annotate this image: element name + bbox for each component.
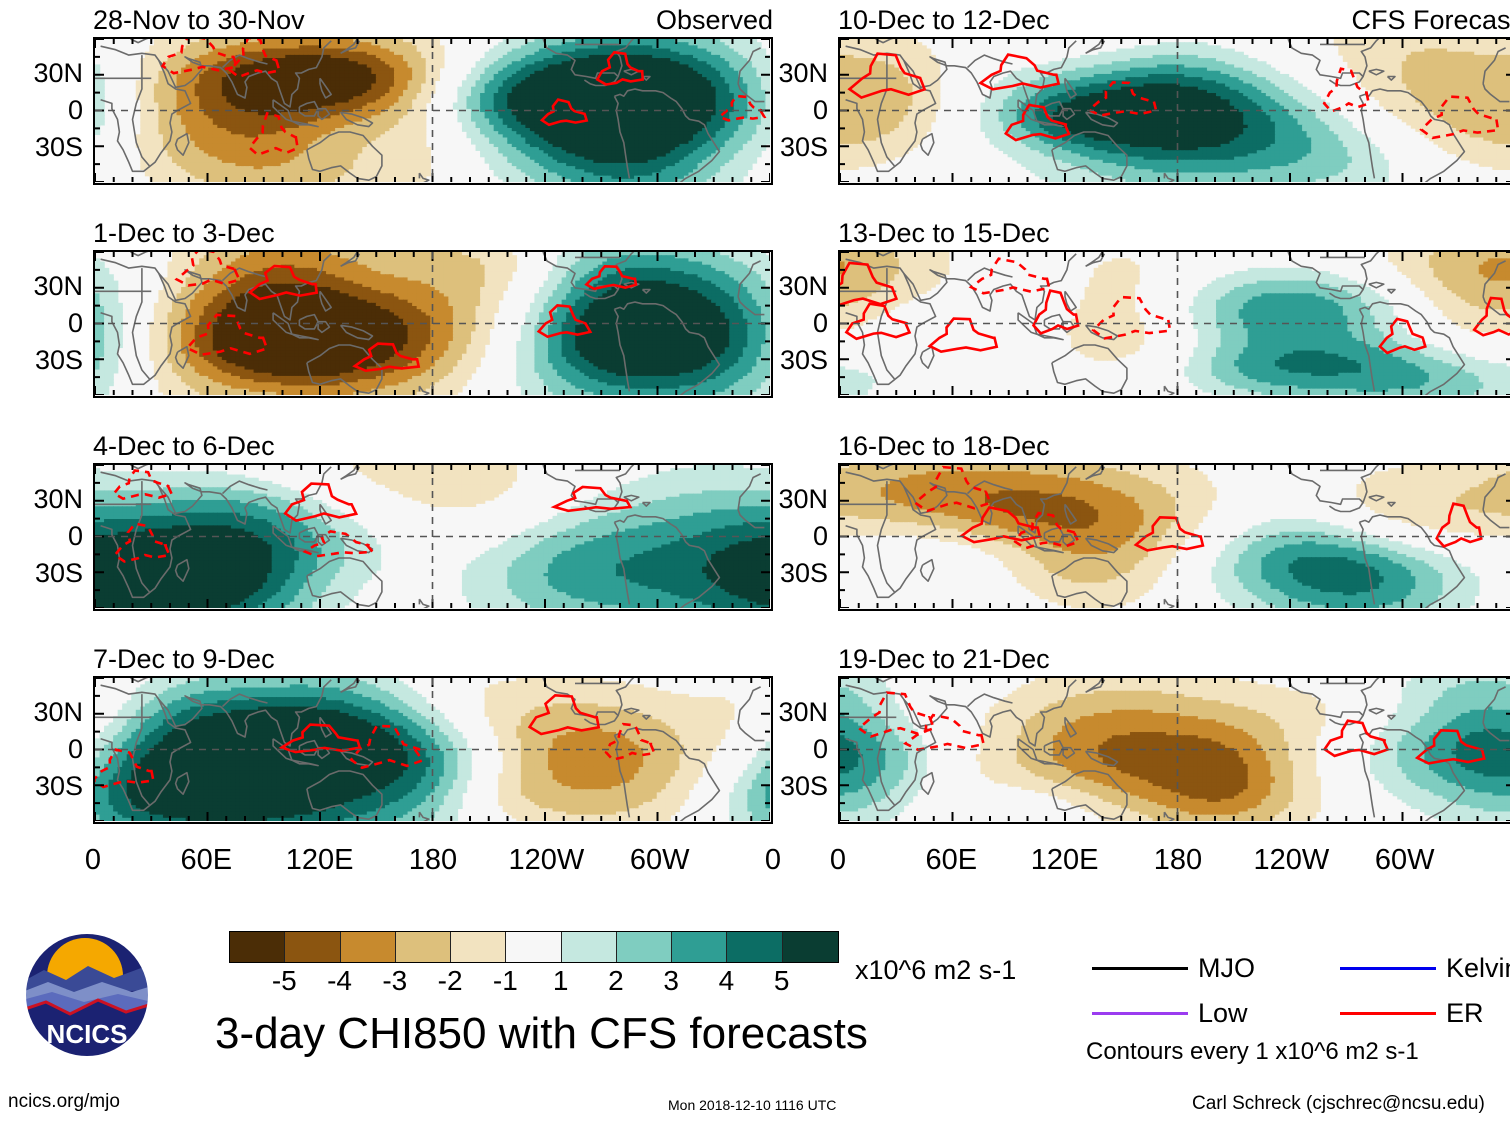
figure-title: 3-day CHI850 with CFS forecasts [215,1012,868,1056]
colorbar-tick-6: 2 [586,967,646,995]
panel-title-fcst-1: 10-Dec to 12-Dec [838,7,1050,34]
colorbar-tick-0: -5 [254,967,314,995]
x-tick-obs-4-3: 180 [383,846,483,875]
legend-item-low: Low [1092,1000,1248,1027]
map-panel-obs-4 [93,676,773,824]
site-url: ncics.org/mjo [8,1092,120,1111]
y-tick-obs-2-2: 30S [1,347,83,374]
map-contours-obs-1 [95,39,770,182]
ncics-logo: NCICS [22,930,152,1060]
x-tick-obs-4-1: 60E [156,846,256,875]
x-tick-obs-4-2: 120E [270,846,370,875]
legend-item-kelvin-x2: Kelvin x2 [1340,955,1510,982]
y-tick-obs-1-2: 30S [1,134,83,161]
map-contours-fcst-3 [840,465,1510,608]
panel-title-fcst-4: 19-Dec to 21-Dec [838,646,1050,673]
colorbar-segment-7 [617,932,672,962]
colorbar-tick-3: -2 [420,967,480,995]
colorbar-segment-4 [451,932,506,962]
author-credit: Carl Schreck (cjschrec@ncsu.edu) [1192,1094,1485,1113]
legend-label-3: ER [1446,1000,1484,1027]
legend-label-0: MJO [1198,955,1255,982]
generation-timestamp: Mon 2018-12-10 1116 UTC [668,1098,836,1112]
y-tick-obs-1-1: 0 [1,97,83,124]
legend-line-swatch-1 [1340,967,1436,970]
y-tick-obs-4-0: 30N [1,699,83,726]
x-tick-fcst-4-2: 120E [1015,846,1115,875]
y-tick-fcst-3-1: 0 [746,523,828,550]
contour-interval-note: Contours every 1 x10^6 m2 s-1 [1086,1040,1419,1064]
map-panel-obs-1 [93,37,773,185]
x-tick-fcst-4-5: 60W [1355,846,1455,875]
colorbar-segment-0 [230,932,285,962]
colorbar-segment-1 [285,932,340,962]
colorbar-segment-3 [396,932,451,962]
x-tick-obs-4-0: 0 [43,846,143,875]
map-contours-obs-2 [95,252,770,395]
x-tick-fcst-4-0: 0 [788,846,888,875]
map-panel-fcst-1 [838,37,1510,185]
y-tick-fcst-3-2: 30S [746,560,828,587]
column-header-forecast: CFS Forecast [1318,7,1510,34]
colorbar-tick-9: 5 [752,967,812,995]
colorbar-segment-8 [672,932,727,962]
legend-line-swatch-2 [1092,1012,1188,1015]
panel-title-obs-1: 28-Nov to 30-Nov [93,7,305,34]
map-contours-fcst-2 [840,252,1510,395]
colorbar-tick-7: 3 [641,967,701,995]
colorbar-tick-8: 4 [696,967,756,995]
map-panel-fcst-2 [838,250,1510,398]
legend-line-swatch-3 [1340,1012,1436,1015]
panel-title-obs-4: 7-Dec to 9-Dec [93,646,275,673]
column-header-observed: Observed [573,7,773,34]
legend-line-swatch-0 [1092,967,1188,970]
map-panel-fcst-3 [838,463,1510,611]
panel-title-fcst-2: 13-Dec to 15-Dec [838,220,1050,247]
colorbar-tick-2: -3 [365,967,425,995]
colorbar-segment-10 [783,932,838,962]
map-contours-obs-4 [95,678,770,821]
colorbar-segment-9 [727,932,782,962]
map-contours-fcst-1 [840,39,1510,182]
y-tick-obs-4-1: 0 [1,736,83,763]
y-tick-fcst-4-0: 30N [746,699,828,726]
x-tick-obs-4-4: 120W [496,846,596,875]
y-tick-fcst-3-0: 30N [746,486,828,513]
legend-label-2: Low [1198,1000,1248,1027]
legend-item-er: ER [1340,1000,1484,1027]
x-tick-obs-4-5: 60W [610,846,710,875]
y-tick-fcst-4-2: 30S [746,773,828,800]
x-tick-fcst-4-3: 180 [1128,846,1228,875]
legend-label-1: Kelvin x2 [1446,955,1510,982]
y-tick-obs-3-2: 30S [1,560,83,587]
y-tick-fcst-2-0: 30N [746,273,828,300]
map-panel-fcst-4 [838,676,1510,824]
colorbar-segment-6 [562,932,617,962]
y-tick-fcst-2-2: 30S [746,347,828,374]
legend-item-mjo: MJO [1092,955,1255,982]
y-tick-fcst-1-2: 30S [746,134,828,161]
panel-title-fcst-3: 16-Dec to 18-Dec [838,433,1050,460]
y-tick-obs-2-0: 30N [1,273,83,300]
y-tick-fcst-4-1: 0 [746,736,828,763]
y-tick-fcst-2-1: 0 [746,310,828,337]
ncics-logo-text: NCICS [47,1019,128,1049]
colorbar-tick-5: 1 [531,967,591,995]
map-panel-obs-3 [93,463,773,611]
y-tick-fcst-1-0: 30N [746,60,828,87]
map-contours-obs-3 [95,465,770,608]
x-tick-fcst-4-4: 120W [1241,846,1341,875]
y-tick-obs-3-1: 0 [1,523,83,550]
colorbar [229,931,839,963]
map-panel-obs-2 [93,250,773,398]
y-tick-obs-1-0: 30N [1,60,83,87]
x-tick-fcst-4-6: 0 [1468,846,1510,875]
colorbar-segment-2 [341,932,396,962]
panel-title-obs-3: 4-Dec to 6-Dec [93,433,275,460]
y-tick-fcst-1-1: 0 [746,97,828,124]
map-contours-fcst-4 [840,678,1510,821]
panel-title-obs-2: 1-Dec to 3-Dec [93,220,275,247]
colorbar-tick-1: -4 [310,967,370,995]
colorbar-units-label: x10^6 m2 s-1 [855,957,1016,984]
colorbar-segment-5 [506,932,561,962]
y-tick-obs-3-0: 30N [1,486,83,513]
y-tick-obs-2-1: 0 [1,310,83,337]
x-tick-fcst-4-1: 60E [901,846,1001,875]
y-tick-obs-4-2: 30S [1,773,83,800]
colorbar-tick-4: -1 [475,967,535,995]
